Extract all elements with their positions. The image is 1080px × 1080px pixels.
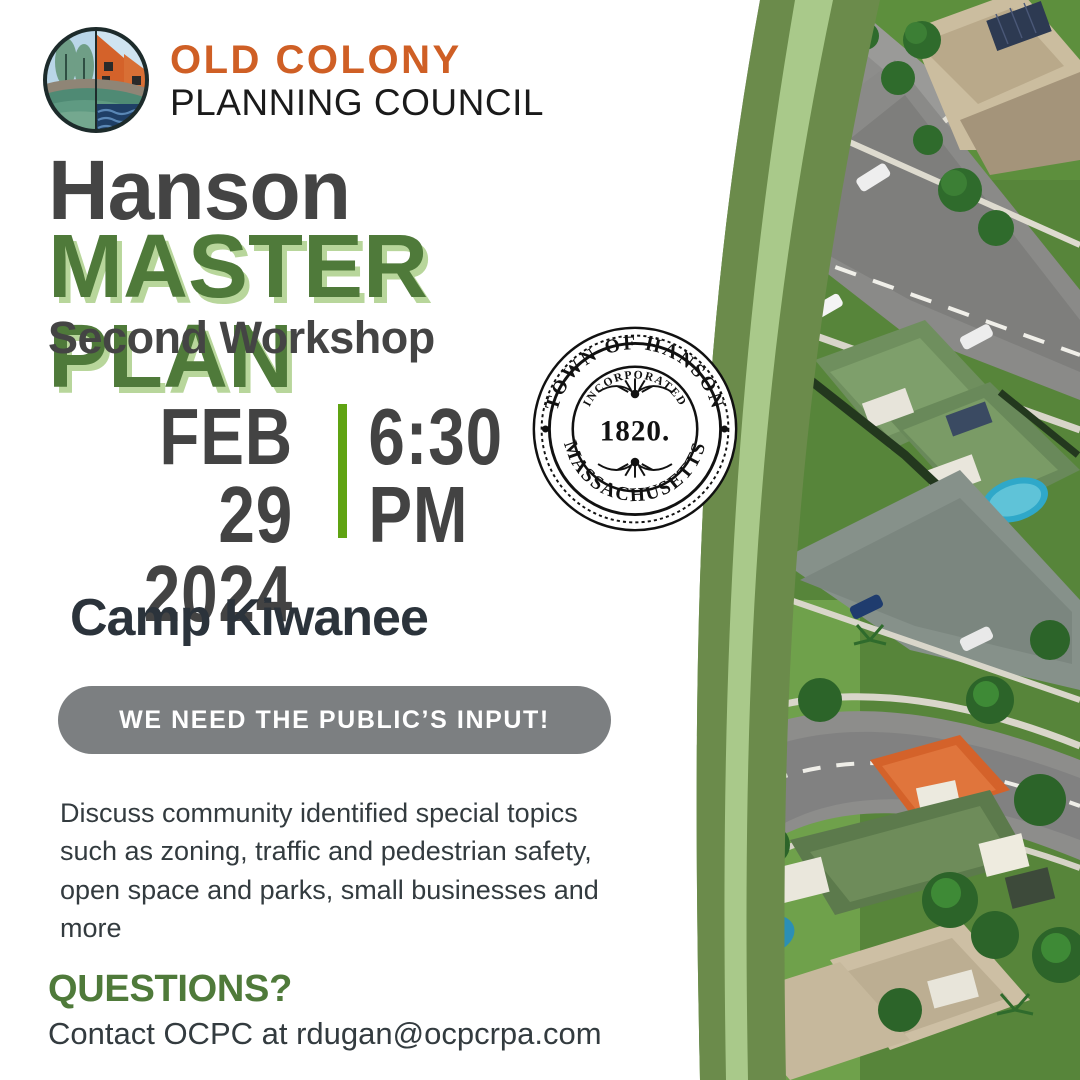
public-input-banner-label: WE NEED THE PUBLIC’S INPUT!	[119, 706, 550, 735]
poster-content: OLD COLONY PLANNING COUNCIL Hanson MASTE…	[0, 0, 660, 1080]
public-input-banner: WE NEED THE PUBLIC’S INPUT!	[58, 686, 611, 754]
aerial-neighborhood-photo	[660, 0, 1080, 1080]
event-venue: Camp Kiwanee	[70, 588, 428, 648]
seal-year: 1820.	[600, 416, 671, 448]
old-colony-logo-icon	[40, 24, 152, 136]
organization-logo: OLD COLONY PLANNING COUNCIL	[40, 24, 544, 136]
flyer-poster: OLD COLONY PLANNING COUNCIL Hanson MASTE…	[0, 0, 1080, 1080]
town-of-hanson-seal: TOWN OF HANSON MASSACHUSETTS INCORPORATE…	[528, 322, 742, 536]
questions-heading: QUESTIONS?	[48, 968, 292, 1011]
logo-line-2: PLANNING COUNCIL	[170, 84, 544, 121]
event-time-line2: PM	[347, 476, 532, 554]
event-date-line1: FEB 29	[88, 398, 293, 555]
event-time-line1: 6:30	[347, 398, 532, 476]
description-paragraph: Discuss community identified special top…	[60, 794, 600, 947]
workshop-subtitle: Second Workshop	[48, 312, 435, 364]
logo-line-1: OLD COLONY	[170, 40, 544, 80]
contact-line: Contact OCPC at rdugan@ocpcrpa.com	[48, 1016, 602, 1052]
datetime-divider	[338, 404, 347, 538]
